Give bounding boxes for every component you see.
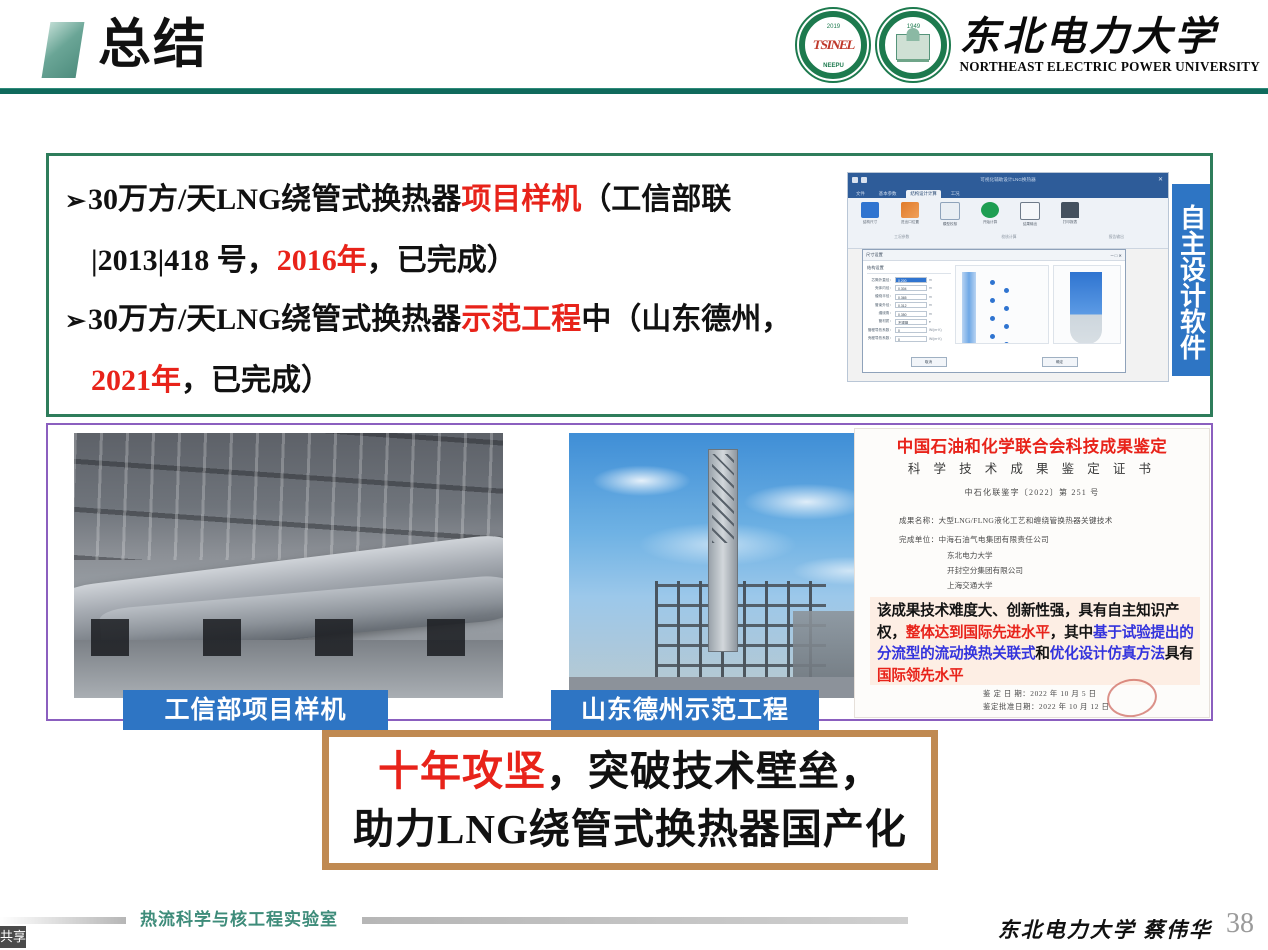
banner-line-2: 助力LNG绕管式换热器国产化	[353, 800, 907, 858]
tube-node	[1004, 306, 1009, 311]
eval-seg-2-red: 整体达到国际先进水平	[906, 625, 1050, 641]
achievements-photo-box: 中国石油和化学联合会科技成果鉴定 科 学 技 术 成 果 鉴 定 证 书 中石化…	[46, 423, 1213, 721]
field-input-1[interactable]: 0.304	[895, 285, 927, 291]
tube-node	[1004, 324, 1009, 329]
certificate-title: 中国石油和化学联合会科技成果鉴定	[855, 433, 1209, 457]
field-label-6: 管程导热系数：	[867, 328, 893, 333]
ribbon-button-print-report[interactable]: 打印报表	[1054, 202, 1086, 248]
share-watermark: 共享	[0, 926, 26, 948]
seal-monogram: TSINEL	[811, 37, 856, 53]
certificate-unit-0: 中海石油气电集团有限责任公司	[938, 535, 1049, 544]
bullet-1-line2-highlight: 2016年	[277, 244, 367, 277]
footer-affiliation: 东北电力大学 蔡伟华	[998, 914, 1212, 944]
tab-structure-calc[interactable]: 结构设计计算	[906, 190, 940, 198]
field-input-7[interactable]: 0	[895, 336, 927, 342]
appraisal-certificate: 中国石油和化学联合会科技成果鉴定 科 学 技 术 成 果 鉴 定 证 书 中石化…	[854, 428, 1210, 718]
ribbon-label-2: 模型校核	[943, 222, 957, 226]
ribbon-button-model-check[interactable]: 模型校核	[934, 202, 966, 248]
certificate-units-row: 完成单位：中海石油气电集团有限责任公司	[899, 534, 1049, 545]
ribbon-button-result-output[interactable]: 结果输出	[1014, 202, 1046, 248]
page-number: 38	[1226, 908, 1254, 940]
form-row-2: 缠绕半径： 0.365 m	[867, 294, 951, 300]
certificate-units-label: 完成单位：	[899, 535, 938, 544]
distillation-tower	[708, 449, 738, 652]
header-divider	[0, 88, 1268, 94]
cancel-button[interactable]: 取消	[911, 357, 947, 367]
dialog-titlebar: 尺寸设置 ─ □ ✕	[863, 250, 1125, 261]
logo-group: TSINEL 2019 NEEPU 1949 东北电力大学 NORTHEAST …	[795, 6, 1260, 84]
bullet-list: ➢30万方/天LNG绕管式换热器项目样机（工信部联 |2013|418 号，20…	[65, 170, 865, 410]
ribbon-button-port-position[interactable]: 进出口位置	[894, 202, 926, 248]
bullet-1-line2-a: |2013|418 号，	[91, 244, 277, 277]
form-row-3: 管束外径： 0.312 m	[867, 302, 951, 308]
dialog-close-icon[interactable]: ✕	[1118, 253, 1122, 258]
field-input-4[interactable]: 0.350	[895, 311, 927, 317]
form-row-5: 管材质： 不锈钢 ▾	[867, 319, 951, 325]
field-select-5[interactable]: 不锈钢	[895, 319, 927, 325]
vessel-supports	[91, 619, 477, 656]
prototype-photo	[74, 433, 503, 698]
ribbon-label-3: 开始计算	[983, 220, 997, 224]
field-unit-2: m	[929, 295, 932, 299]
printer-icon	[1061, 202, 1079, 218]
design-software-screenshot: 可视化辅助设计LNG换热器 ✕ 文件 基本参数 结构设计计算 工况 结构尺寸 进…	[847, 172, 1169, 382]
university-crest-logo: 1949	[875, 7, 951, 83]
field-unit-3: m	[929, 303, 932, 307]
certificate-unit-2: 开封空分集团有限公司	[947, 565, 1023, 576]
tube-node	[990, 280, 995, 285]
crest-gate-icon	[896, 34, 930, 60]
dialog-buttons: 取消 确定	[863, 357, 1125, 367]
dialog-title: 尺寸设置	[866, 252, 883, 258]
field-input-6[interactable]: 0	[895, 327, 927, 333]
certificate-unit-1: 东北电力大学	[947, 550, 993, 561]
form-row-0: 芯筒外直径： 0.200 m	[867, 277, 951, 283]
certificate-name-label: 成果名称：	[899, 516, 938, 525]
tsinel-seal-logo: TSINEL 2019 NEEPU	[795, 7, 871, 83]
vessel-diagram	[1053, 265, 1121, 344]
form-row-7: 壳程导热系数： 0 W/(m·K)	[867, 336, 951, 342]
sw-ribbon: 结构尺寸 进出口位置 模型校核 开始计算 结果输出 打印报表	[848, 198, 1168, 249]
structure-form: 结构设置 芯筒外直径： 0.200 m 壳体内径： 0.304 m 缠绕半径： …	[867, 265, 951, 344]
bullet-arrow-icon: ➢	[65, 188, 86, 215]
port-position-icon	[901, 202, 919, 218]
sw-tab-bar: 文件 基本参数 结构设计计算 工况	[848, 186, 1168, 198]
table-icon	[1020, 202, 1040, 220]
demonstration-project-photo	[569, 433, 899, 698]
field-label-5: 管材质：	[867, 319, 893, 324]
eval-seg-6-blue: 优化设计仿真方法	[1050, 646, 1165, 662]
bullet-2-highlight: 示范工程	[461, 303, 581, 336]
tube-node	[1004, 342, 1009, 344]
tube-node	[990, 334, 995, 339]
play-circle-icon	[981, 202, 999, 218]
dialog-window-controls: ─ □ ✕	[1111, 253, 1122, 258]
eval-seg-3: ，其中	[1050, 625, 1093, 641]
ribbon-label-5: 打印报表	[1063, 220, 1077, 224]
banner-line-1: 十年攻坚，突破技术壁垒，	[378, 742, 882, 800]
photo-caption-demonstration: 山东德州示范工程	[551, 690, 819, 730]
ribbon-group-2: 报告输出	[1063, 235, 1169, 240]
ribbon-button-structure-size[interactable]: 结构尺寸	[854, 202, 886, 248]
bullet-2-line2: 2021年，已完成）	[65, 351, 865, 410]
field-label-3: 管束外径：	[867, 303, 893, 308]
bullet-2-text-b: 中（山东德州，	[581, 303, 791, 336]
tab-conditions[interactable]: 工况	[947, 190, 964, 198]
certificate-appraisal-date: 鉴 定 日 期：2022 年 10 月 5 日	[983, 688, 1097, 699]
bullet-1-highlight: 项目样机	[461, 183, 581, 216]
bullet-2-line2-b: ，已完成）	[181, 364, 331, 397]
university-name-block: 东北电力大学 NORTHEAST ELECTRIC POWER UNIVERSI…	[959, 15, 1260, 75]
bullet-item-2: ➢30万方/天LNG绕管式换热器示范工程中（山东德州， 2021年，已完成）	[65, 290, 865, 410]
field-unit-0: m	[929, 278, 932, 282]
tube-bundle-diagram	[955, 265, 1049, 344]
vessel-shape	[1070, 272, 1102, 344]
certificate-number: 中石化联鉴字〔2022〕第 251 号	[855, 487, 1209, 498]
eval-seg-5: 和	[1035, 646, 1049, 662]
bullet-1-text-b: （工信部联	[581, 183, 731, 216]
footer-divider-right	[362, 917, 908, 924]
bullet-2-text-a: 30万方/天LNG绕管式换热器	[88, 303, 461, 336]
field-input-0[interactable]: 0.200	[895, 277, 927, 283]
size-settings-dialog: 尺寸设置 ─ □ ✕ 结构设置 芯筒外直径： 0.200 m 壳体内径： 0.3…	[862, 249, 1126, 373]
footer-divider-left	[0, 917, 126, 924]
ribbon-group-labels: 工况参数 校核计算 报告输出	[848, 235, 1169, 240]
bullet-1-line2: |2013|418 号，2016年，已完成）	[65, 231, 865, 290]
bullet-1-line2-b: ，已完成）	[367, 244, 517, 277]
slide-header: 总结 TSINEL 2019 NEEPU 1949 东北电力大学 NORTHEA…	[0, 0, 1268, 92]
evaluation-conclusion-box: 该成果技术难度大、创新性强，具有自主知识产权，整体达到国际先进水平，其中基于试验…	[870, 597, 1200, 685]
dialog-body: 结构设置 芯筒外直径： 0.200 m 壳体内径： 0.304 m 缠绕半径： …	[863, 261, 1125, 348]
eval-seg-7: 具有	[1165, 646, 1194, 662]
form-section-label: 结构设置	[867, 265, 951, 274]
chevron-down-icon[interactable]: ▾	[929, 320, 931, 324]
certificate-subtitle: 科 学 技 术 成 果 鉴 定 证 书	[855, 458, 1209, 477]
ribbon-label-1: 进出口位置	[901, 220, 919, 224]
bullet-item-1: ➢30万方/天LNG绕管式换热器项目样机（工信部联 |2013|418 号，20…	[65, 170, 865, 290]
sw-titlebar: 可视化辅助设计LNG换热器 ✕	[848, 173, 1168, 186]
tube-node	[1004, 288, 1009, 293]
tube-node	[990, 316, 995, 321]
field-label-7: 壳程导热系数：	[867, 336, 893, 341]
ribbon-label-0: 结构尺寸	[863, 220, 877, 224]
eval-seg-8-red: 国际领先水平	[877, 668, 963, 684]
banner-line-1-rest: ，突破技术壁垒，	[546, 748, 882, 794]
page-title: 总结	[98, 10, 208, 80]
field-unit-6: W/(m·K)	[929, 328, 942, 332]
tab-file[interactable]: 文件	[852, 190, 869, 198]
ribbon-button-start-calc[interactable]: 开始计算	[974, 202, 1006, 248]
tab-basic-params[interactable]: 基本参数	[875, 190, 901, 198]
field-unit-7: W/(m·K)	[929, 337, 942, 341]
field-label-0: 芯筒外直径：	[867, 278, 893, 283]
certificate-unit-3: 上海交通大学	[947, 580, 993, 591]
photo-caption-prototype: 工信部项目样机	[123, 690, 388, 730]
form-row-4: 缠绕角： 0.350 m	[867, 311, 951, 317]
seal-abbr-label: NEEPU	[795, 63, 871, 69]
software-vertical-label: 自主设计软件	[1172, 184, 1210, 376]
ribbon-label-4: 结果输出	[1023, 222, 1037, 226]
certificate-name-row: 成果名称：大型LNG/FLNG液化工艺和缠绕管换热器关键技术	[899, 515, 1113, 526]
core-tube-shape	[962, 272, 976, 344]
bullet-2-line2-highlight: 2021年	[91, 364, 181, 397]
ribbon-group-1: 校核计算	[955, 235, 1062, 240]
banner-highlight: 十年攻坚	[378, 748, 546, 794]
field-label-2: 缠绕半径：	[867, 294, 893, 299]
field-input-2[interactable]: 0.365	[895, 294, 927, 300]
certificate-name-value: 大型LNG/FLNG液化工艺和缠绕管换热器关键技术	[938, 516, 1112, 525]
field-unit-4: m	[929, 312, 932, 316]
bullet-arrow-icon-2: ➢	[65, 308, 86, 335]
tube-node	[990, 298, 995, 303]
confirm-button[interactable]: 确定	[1042, 357, 1078, 367]
maximize-icon[interactable]: □	[1115, 253, 1118, 258]
bullet-1-text-a: 30万方/天LNG绕管式换热器	[88, 183, 461, 216]
form-row-1: 壳体内径： 0.304 m	[867, 285, 951, 291]
minimize-icon[interactable]: ─	[1111, 253, 1114, 258]
form-row-6: 管程导热系数： 0 W/(m·K)	[867, 327, 951, 333]
field-input-3[interactable]: 0.312	[895, 302, 927, 308]
certificate-approval-date: 鉴定批准日期：2022 年 10 月 12 日	[983, 701, 1110, 712]
field-unit-1: m	[929, 286, 932, 290]
title-marker-icon	[42, 22, 85, 78]
field-label-4: 缠绕角：	[867, 311, 893, 316]
crest-year-label: 1949	[875, 24, 951, 30]
university-name-en: NORTHEAST ELECTRIC POWER UNIVERSITY	[959, 59, 1260, 75]
close-icon[interactable]: ✕	[1158, 177, 1163, 183]
seal-year-label: 2019	[795, 24, 871, 30]
field-label-1: 壳体内径：	[867, 286, 893, 291]
university-name-cn: 东北电力大学	[959, 15, 1260, 59]
structure-size-icon	[861, 202, 879, 218]
document-icon	[940, 202, 960, 220]
sw-window-title: 可视化辅助设计LNG换热器	[848, 177, 1168, 183]
conclusion-banner: 十年攻坚，突破技术壁垒， 助力LNG绕管式换热器国产化	[322, 730, 938, 870]
footer-lab-name: 热流科学与核工程实验室	[140, 905, 338, 930]
ribbon-group-0: 工况参数	[848, 235, 955, 240]
